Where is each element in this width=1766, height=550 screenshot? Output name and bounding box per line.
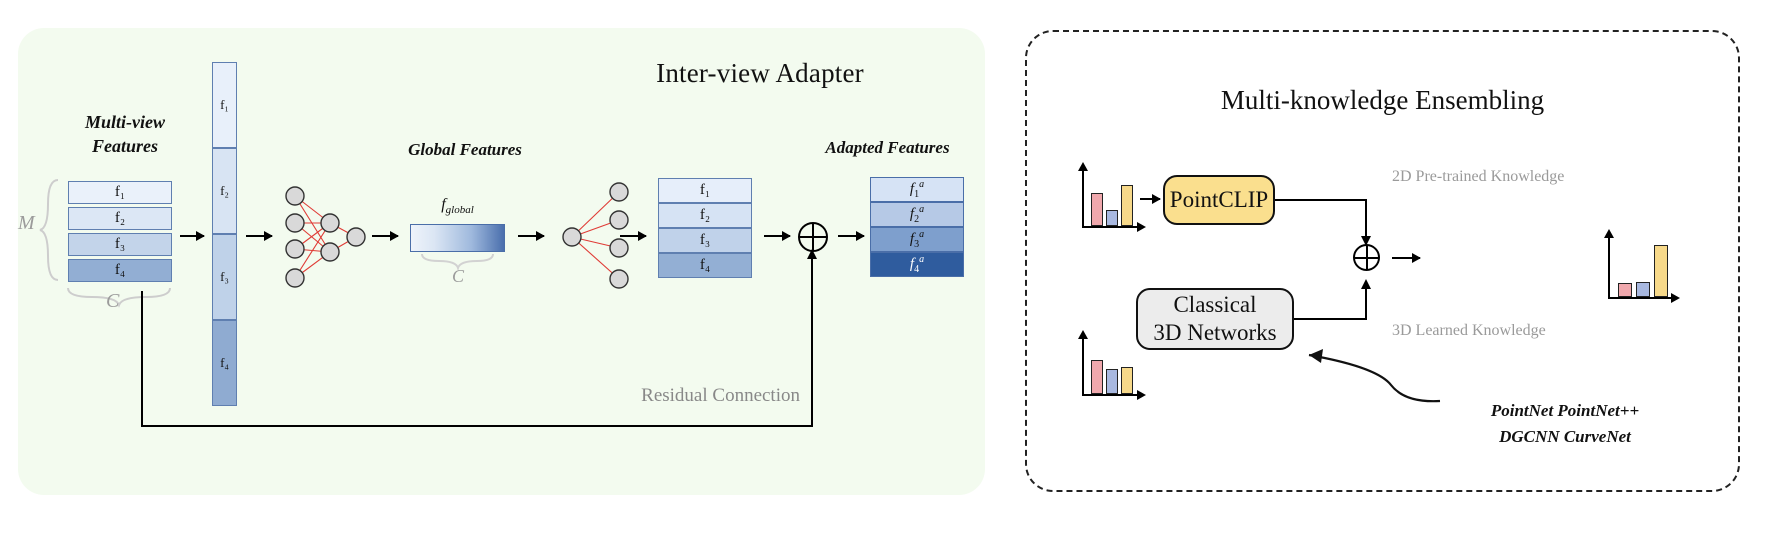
multi-view-label-line2: Features xyxy=(55,134,195,158)
connector-classical-up xyxy=(1365,288,1367,320)
adapted-row: f3a xyxy=(870,227,964,252)
feature-label: f₁ xyxy=(700,182,710,199)
concat-segment: f₃ xyxy=(212,234,237,320)
dim-label-c2: C xyxy=(452,266,464,287)
connector-pointclip-down xyxy=(1365,199,1367,237)
arrow-to-mlp-encoder xyxy=(246,235,272,237)
diagram-canvas: Inter-view Adapter Multi-view Features G… xyxy=(0,0,1766,550)
global-feature-bar xyxy=(410,224,505,252)
classical-3d-networks-node[interactable]: Classical 3D Networks xyxy=(1136,288,1294,350)
adapted-row: f2a xyxy=(870,202,964,227)
feature-label: f₃ xyxy=(700,232,710,249)
intermediate-feature-stack: f₁ f₂ f₃ f₄ xyxy=(658,178,752,278)
arrow-to-mid-stack xyxy=(620,235,646,237)
feature-label: f₃ xyxy=(115,236,125,253)
feature-label: f₃ xyxy=(213,269,236,285)
classical-network-names: PointNet PointNet++ DGCNN CurveNet xyxy=(1440,398,1690,451)
arrow-to-concat xyxy=(180,235,204,237)
global-feature-symbol: fglobal xyxy=(410,196,505,216)
arrow-to-pointclip xyxy=(1140,198,1160,200)
adapted-row: f4a xyxy=(870,252,964,277)
concat-segment: f₁ xyxy=(212,62,237,148)
connector-pointclip-horizontal xyxy=(1275,199,1367,201)
arrow-to-output-chart xyxy=(1392,257,1420,259)
multi-view-row: f₁ xyxy=(68,181,172,204)
mini-bar-chart-ensembled-output xyxy=(1608,237,1678,299)
arrow-to-sum xyxy=(764,235,790,237)
adapted-feature-stack: f1a f2a f3a f4a xyxy=(870,177,964,277)
brace-c-icon xyxy=(66,288,174,308)
mlp-decoder-graph xyxy=(560,182,632,292)
concat-segment: f₂ xyxy=(212,148,237,234)
arrow-to-mlp-decoder xyxy=(518,235,544,237)
adapted-row: f1a xyxy=(870,177,964,202)
feature-label: f₂ xyxy=(115,210,125,227)
feature-label: f₁ xyxy=(213,97,236,113)
residual-line-horizontal xyxy=(141,425,813,427)
multi-view-label-line1: Multi-view xyxy=(55,110,195,134)
concat-segment: f₄ xyxy=(212,320,237,406)
feature-label: f₄ xyxy=(213,355,236,371)
mlp-encoder-graph xyxy=(282,185,367,290)
feature-label: f₁ xyxy=(115,184,125,201)
network-names-line1: PointNet PointNet++ xyxy=(1440,398,1690,424)
residual-sum-operator-icon xyxy=(798,222,828,252)
residual-line-vertical-left xyxy=(141,291,143,427)
multi-knowledge-ensembling-title: Multi-knowledge Ensembling xyxy=(1140,85,1625,116)
feature-label: f₄ xyxy=(700,257,710,274)
multi-view-row: f₂ xyxy=(68,207,172,230)
arrow-to-adapted-stack xyxy=(838,235,864,237)
brace-m-icon xyxy=(38,178,60,282)
inter-view-adapter-title: Inter-view Adapter xyxy=(595,58,925,89)
adapted-label: f1a xyxy=(910,179,924,200)
multi-view-row: f₄ xyxy=(68,259,172,282)
feature-label: f₄ xyxy=(115,262,125,279)
global-features-label: Global Features xyxy=(385,140,545,160)
adapted-label: f4a xyxy=(910,254,924,275)
label-3d-learned-knowledge: 3D Learned Knowledge xyxy=(1392,322,1546,340)
adapted-label: f2a xyxy=(910,204,924,225)
mini-bar-chart-pointclip-input xyxy=(1082,170,1144,228)
multi-view-features-label: Multi-view Features xyxy=(55,110,195,159)
mini-bar-chart-classical3d-input xyxy=(1082,338,1144,396)
arrow-to-global-features xyxy=(372,235,398,237)
label-2d-pretrained-knowledge: 2D Pre-trained Knowledge xyxy=(1392,168,1564,186)
feature-label: f₂ xyxy=(213,183,236,199)
classical-label-line2: 3D Networks xyxy=(1153,319,1276,347)
connector-classical-horizontal xyxy=(1294,318,1367,320)
adapted-label: f3a xyxy=(910,229,924,250)
feature-label: f₂ xyxy=(700,207,710,224)
feature-row: f₂ xyxy=(658,203,752,228)
network-names-line2: DGCNN CurveNet xyxy=(1440,424,1690,450)
feature-row: f₄ xyxy=(658,253,752,278)
dim-label-m: M xyxy=(18,212,35,235)
residual-line-vertical-right xyxy=(811,258,813,427)
dim-label-c: C xyxy=(106,290,119,313)
feature-row: f₁ xyxy=(658,178,752,203)
multi-view-row: f₃ xyxy=(68,233,172,256)
ensemble-sum-operator-icon xyxy=(1353,244,1380,271)
callout-arrow-icon xyxy=(1295,345,1455,407)
adapted-features-label: Adapted Features xyxy=(800,138,975,158)
pointclip-node[interactable]: PointCLIP xyxy=(1163,175,1275,225)
classical-label-line1: Classical xyxy=(1153,291,1276,319)
multi-view-feature-stack: f₁ f₂ f₃ f₄ xyxy=(68,181,172,282)
feature-row: f₃ xyxy=(658,228,752,253)
concatenated-feature-column: f₁ f₂ f₃ f₄ xyxy=(212,62,237,406)
residual-connection-label: Residual Connection xyxy=(600,385,800,407)
